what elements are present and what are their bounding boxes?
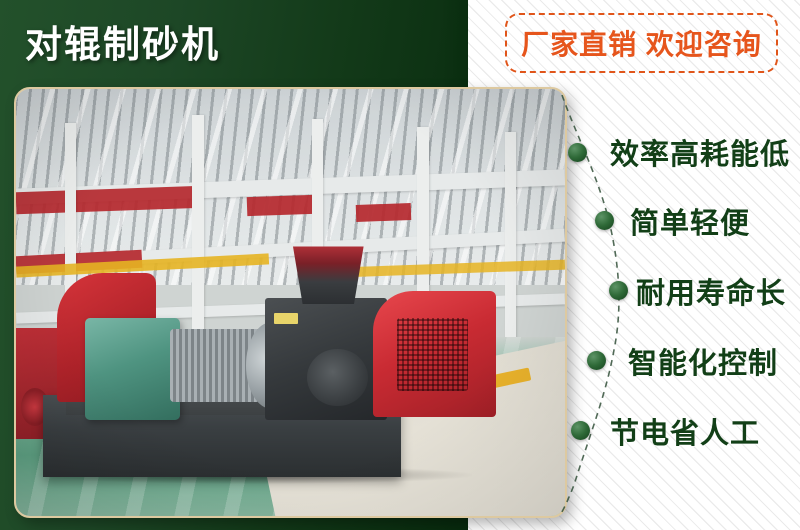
feature-item-3: 耐用寿命长 bbox=[636, 270, 786, 312]
feature-bullet-dot bbox=[587, 351, 606, 370]
feature-bullet-dot bbox=[609, 281, 628, 300]
product-photo-image bbox=[16, 89, 565, 516]
feature-item-5: 节电省人工 bbox=[610, 410, 760, 452]
feature-item-2: 简单轻便 bbox=[630, 200, 750, 242]
feature-bullet-dot bbox=[595, 211, 614, 230]
feature-item-1: 效率高耗能低 bbox=[610, 131, 790, 173]
feature-item-4: 智能化控制 bbox=[628, 340, 778, 382]
feature-bullet-dot bbox=[571, 421, 590, 440]
page-title: 对辊制砂机 bbox=[25, 22, 220, 68]
photo-vignette bbox=[16, 89, 565, 516]
feature-bullet-dot bbox=[568, 143, 587, 162]
promo-badge-label: 厂家直销 欢迎咨询 bbox=[521, 23, 762, 63]
promo-badge[interactable]: 厂家直销 欢迎咨询 bbox=[505, 13, 778, 73]
product-photo[interactable] bbox=[14, 87, 567, 518]
promo-banner: 对辊制砂机 厂家直销 欢迎咨询 bbox=[0, 0, 800, 530]
